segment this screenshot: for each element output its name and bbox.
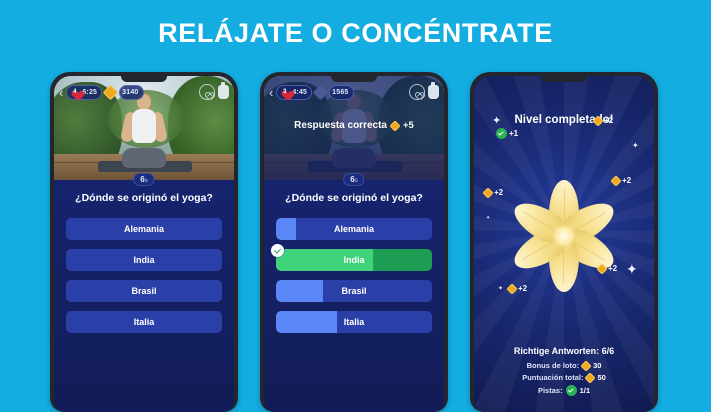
answer-option[interactable]: Alemania (66, 218, 222, 240)
heart-outline-icon[interactable] (409, 84, 425, 100)
question-text: ¿Dónde se originó el yoga? (62, 192, 226, 205)
float-value: +2 (518, 284, 527, 293)
answer-label: Alemania (334, 224, 374, 234)
coin-icon (580, 360, 591, 371)
back-button[interactable]: ‹ (59, 86, 63, 99)
answer-list: Alemania India Brasil Italia (276, 218, 432, 342)
stat-row: Bonus de loto: 30 (474, 361, 654, 370)
coin-icon (389, 120, 400, 131)
coins-value: 1565 (332, 89, 348, 96)
coin-icon (585, 372, 596, 383)
correct-answer-banner: Respuesta correcta +5 (264, 120, 444, 131)
sparkle-icon: ✦ (626, 262, 638, 276)
answer-option[interactable]: Brasil (276, 280, 432, 302)
answer-label: Brasil (341, 286, 366, 296)
coins-pill: 3140 (119, 85, 143, 100)
sparkle-icon: ✦ (498, 286, 503, 292)
screen-question: ‹ 4 6:25 3140 6s ¿Dónde se originó el yo… (54, 76, 234, 412)
stat-value: 1/1 (580, 386, 590, 395)
phone-mockup-question: ‹ 4 6:25 3140 6s ¿Dónde se originó el yo… (50, 72, 238, 412)
lives-pill: 3 4:45 (276, 85, 312, 100)
answer-list: Alemania India Brasil Italia (66, 218, 222, 342)
sparkle-icon: ✦ (486, 216, 490, 221)
answer-label: Brasil (131, 286, 156, 296)
check-icon (566, 385, 577, 396)
float-reward: +2 (484, 188, 503, 197)
stats-panel: Richtige Antworten: 6/6 Bonus de loto: 3… (474, 346, 654, 399)
answer-label: Italia (134, 317, 155, 327)
heart-icon: 4 (69, 87, 80, 97)
phone-notch (331, 76, 377, 82)
heart-outline-icon[interactable] (199, 84, 215, 100)
answer-option-correct[interactable]: India (276, 249, 432, 271)
flower-core (554, 226, 574, 246)
banner-text: Respuesta correcta (294, 120, 387, 131)
back-button[interactable]: ‹ (269, 86, 273, 99)
page-title: RELÁJATE O CONCÉNTRATE (0, 18, 711, 49)
hud-bar: ‹ 3 4:45 1565 (264, 83, 444, 101)
stat-value: 30 (593, 361, 601, 370)
answer-option[interactable]: Brasil (66, 280, 222, 302)
screen-result: ‹ 3 4:45 1565 Respuesta correcta +5 6s ¿… (264, 76, 444, 412)
coin-icon (482, 187, 493, 198)
float-reward: +2 (598, 264, 617, 273)
sparkle-icon: ✦ (632, 142, 639, 150)
float-value: +2 (494, 188, 503, 197)
answer-option[interactable]: Alemania (276, 218, 432, 240)
float-reward: +1 (496, 128, 518, 139)
stat-row: Puntuación total: 50 (474, 373, 654, 382)
coin-icon (592, 115, 603, 126)
hud-bar: ‹ 4 6:25 3140 (54, 83, 234, 101)
float-value: +2 (622, 176, 631, 185)
answer-option[interactable]: Italia (66, 311, 222, 333)
answer-option[interactable]: Italia (276, 311, 432, 333)
answer-label: Alemania (124, 224, 164, 234)
bottle-icon[interactable] (218, 85, 229, 99)
answer-label: India (133, 255, 154, 265)
coin-icon (103, 84, 119, 100)
float-reward: +2 (508, 284, 527, 293)
check-icon (496, 128, 507, 139)
stat-value: 50 (597, 373, 605, 382)
coins-pill: 1565 (329, 85, 353, 100)
timer-value: 6:25 (82, 89, 97, 96)
phone-notch (541, 76, 587, 82)
float-value: +2 (608, 264, 617, 273)
stat-row: Pistas: 1/1 (474, 385, 654, 396)
coin-icon (506, 283, 517, 294)
check-icon (271, 244, 284, 257)
heart-icon: 3 (279, 87, 290, 97)
coin-icon (610, 175, 621, 186)
lives-pill: 4 6:25 (66, 85, 102, 100)
answer-label: Italia (344, 317, 365, 327)
coin-icon (596, 263, 607, 274)
phone-notch (121, 76, 167, 82)
phone-mockup-result: ‹ 3 4:45 1565 Respuesta correcta +5 6s ¿… (260, 72, 448, 412)
sparkle-icon: ✦ (492, 116, 501, 127)
answer-option[interactable]: India (66, 249, 222, 271)
correct-answers-count: Richtige Antworten: 6/6 (474, 346, 654, 356)
stat-label: Puntuación total: (522, 373, 583, 382)
float-value: +2 (604, 116, 613, 125)
countdown-badge: 6s (133, 173, 154, 186)
float-reward: +2 (594, 116, 613, 125)
banner-reward: +5 (403, 120, 414, 131)
countdown-badge: 6s (343, 173, 364, 186)
stat-label: Bonus de loto: (527, 361, 580, 370)
timer-value: 4:45 (292, 89, 307, 96)
float-value: +1 (509, 129, 518, 138)
stat-label: Pistas: (538, 386, 563, 395)
bottle-icon[interactable] (428, 85, 439, 99)
float-reward: +2 (612, 176, 631, 185)
screen-level-complete: Nivel completado! +1 +2 +2 +2 (474, 76, 654, 412)
phone-mockup-complete: Nivel completado! +1 +2 +2 +2 (470, 72, 658, 412)
answer-label: India (343, 255, 364, 265)
coin-icon (313, 84, 329, 100)
question-text: ¿Dónde se originó el yoga? (272, 192, 436, 205)
coins-value: 3140 (122, 89, 138, 96)
